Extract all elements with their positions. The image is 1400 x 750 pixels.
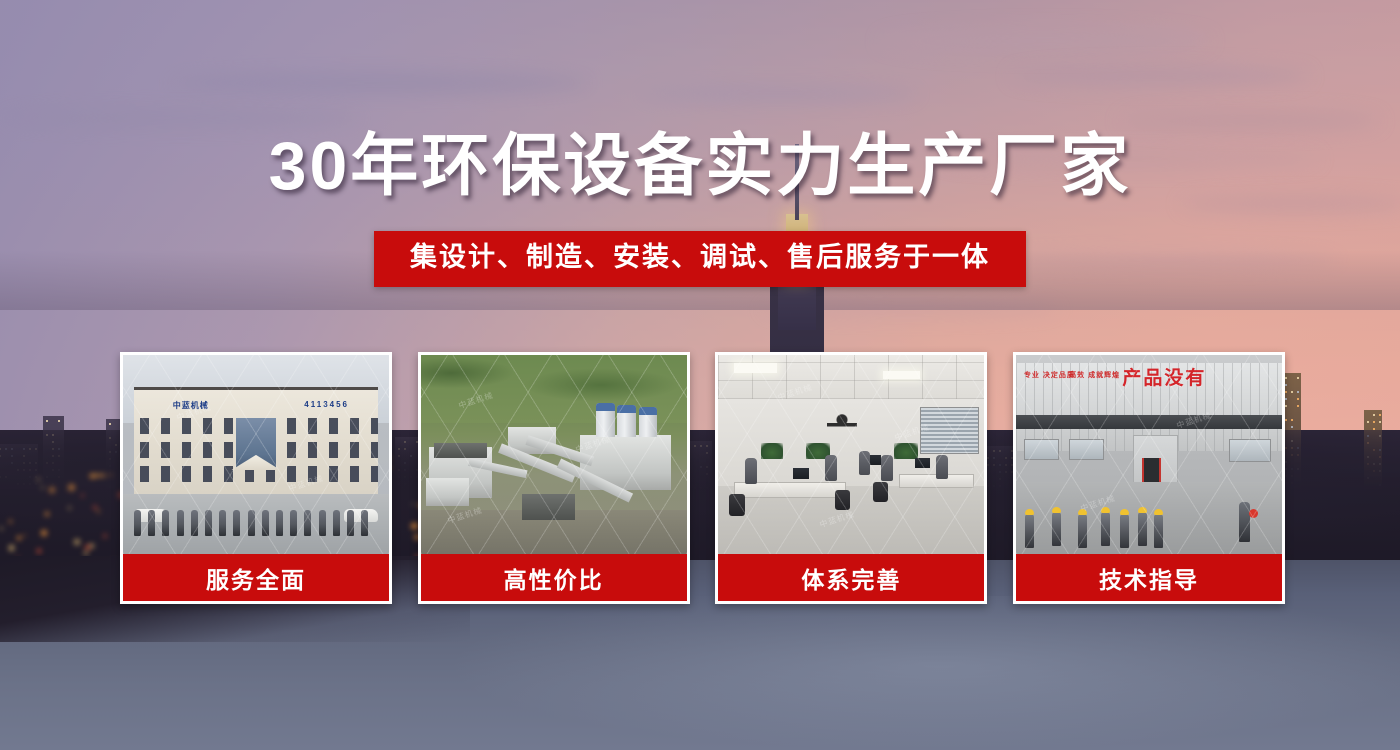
potted-plant — [761, 443, 783, 459]
building-window — [1285, 391, 1287, 393]
street-light-glow — [68, 506, 71, 509]
photo-layer: 产品没有 专业 决定品质 高效 成就辉煌 — [1016, 355, 1282, 554]
subtitle-banner: 集设计、制造、安装、调试、售后服务于一体 — [374, 231, 1026, 287]
staff-member — [304, 510, 311, 536]
staff-member — [347, 510, 354, 536]
street-light-glow — [41, 530, 47, 536]
office-desk — [734, 482, 846, 498]
building-window — [1285, 405, 1287, 407]
staff-member — [290, 510, 297, 536]
street-light-glow — [103, 534, 107, 538]
promotional-banner: 30年环保设备实力生产厂家 集设计、制造、安装、调试、售后服务于一体 中蓝机械 … — [0, 0, 1400, 750]
subtitle-row: 集设计、制造、安装、调试、售后服务于一体 — [0, 231, 1400, 287]
office-building: 中蓝机械 4113456 — [134, 387, 379, 498]
monitor — [793, 468, 809, 479]
building-window — [1297, 391, 1299, 393]
wall-dark-band — [1016, 415, 1282, 429]
yellow-hard-hat — [1078, 509, 1087, 515]
factory-worker — [1120, 514, 1129, 548]
building-window — [1379, 414, 1381, 416]
card-photo-industrial-plant: 中蓝机械 中蓝机械 中蓝机械 — [421, 355, 687, 554]
plant-roof — [434, 443, 487, 459]
factory-window — [1024, 439, 1059, 461]
street-light-glow — [17, 536, 21, 540]
company-phone-text: 4113456 — [304, 400, 349, 409]
staff-member — [276, 510, 283, 536]
building-window — [109, 423, 111, 425]
staff-member — [333, 510, 340, 536]
factory-worker — [1154, 514, 1163, 548]
factory-worker — [1138, 512, 1147, 546]
yellow-hard-hat — [1101, 507, 1110, 513]
building-window — [1285, 419, 1287, 421]
cloud — [1010, 66, 1310, 86]
feature-card-value[interactable]: 中蓝机械 中蓝机械 中蓝机械 高性价比 — [418, 352, 690, 604]
road-light-streak — [89, 474, 108, 477]
staff-member — [262, 510, 269, 536]
office-chair — [835, 490, 850, 510]
factory-worker — [1052, 512, 1061, 546]
building-window — [1297, 398, 1299, 400]
photo-layer: 中蓝机械 4113456 — [123, 355, 389, 554]
building-window — [1285, 398, 1287, 400]
ceiling-tile-grid — [718, 355, 984, 399]
yellow-hard-hat — [1052, 507, 1061, 513]
seated-person — [859, 451, 870, 475]
yellow-hard-hat — [1120, 509, 1129, 515]
building-window — [1285, 377, 1287, 379]
factory-window — [1069, 439, 1104, 461]
street-light-glow — [84, 551, 87, 554]
card-caption: 高性价比 — [421, 554, 687, 601]
feature-card-service[interactable]: 中蓝机械 4113456 中蓝机械 中蓝机械 服务全面 — [120, 352, 392, 604]
street-light-glow — [85, 545, 90, 550]
staff-member — [219, 510, 226, 536]
cloud — [170, 72, 590, 94]
building-window — [1291, 419, 1293, 421]
seated-person — [881, 455, 893, 481]
seated-person — [825, 455, 837, 481]
street-light-glow — [89, 544, 93, 548]
factory-worker — [1025, 514, 1034, 548]
staff-member — [177, 510, 184, 536]
street-light-glow — [41, 486, 44, 489]
supervisor — [1239, 502, 1250, 542]
building-window — [1373, 421, 1375, 423]
card-caption: 服务全面 — [123, 554, 389, 601]
factory-wall-slogan: 产品没有 — [1122, 363, 1206, 390]
staff-member — [134, 510, 141, 536]
photo-layer — [421, 355, 687, 554]
loading-shed — [522, 494, 575, 520]
yellow-hard-hat — [1138, 507, 1147, 513]
building-window — [1379, 421, 1381, 423]
seated-person — [745, 458, 757, 484]
wall-logo — [827, 411, 857, 433]
card-caption: 体系完善 — [718, 554, 984, 601]
wall-slogan-mid: 高效 成就辉煌 — [1069, 371, 1120, 380]
office-chair — [873, 482, 888, 502]
staff-member — [248, 510, 255, 536]
feature-card-system[interactable]: 中蓝机械 中蓝机械 中蓝机械 体系完善 — [715, 352, 987, 604]
cloud — [880, 28, 1210, 54]
feature-card-row: 中蓝机械 4113456 中蓝机械 中蓝机械 服务全面 — [120, 352, 1285, 604]
street-light-glow — [37, 549, 41, 553]
card-photo-office-interior: 中蓝机械 中蓝机械 中蓝机械 — [718, 355, 984, 554]
photo-layer — [718, 355, 984, 554]
silo-cap — [617, 405, 636, 413]
potted-plant — [894, 443, 918, 459]
building-window — [1291, 426, 1293, 428]
card-photo-office-building: 中蓝机械 4113456 中蓝机械 中蓝机械 — [123, 355, 389, 554]
office-chair — [729, 494, 745, 516]
street-light-glow — [9, 545, 15, 551]
card-photo-factory-workers: 产品没有 专业 决定品质 高效 成就辉煌 中蓝机械 中蓝机械 — [1016, 355, 1282, 554]
card-caption: 技术指导 — [1016, 554, 1282, 601]
staff-member — [233, 510, 240, 536]
staff-member — [361, 510, 368, 536]
factory-window — [1229, 439, 1272, 463]
factory-worker — [1101, 512, 1110, 546]
seated-person — [936, 455, 948, 479]
building-window — [1367, 421, 1369, 423]
building-window — [1297, 405, 1299, 407]
cloud — [640, 86, 920, 102]
page-title: 30年环保设备实力生产厂家 — [0, 132, 1400, 200]
window-blinds — [920, 407, 979, 455]
building-window — [1285, 384, 1287, 386]
silo-cap — [596, 403, 615, 411]
street-light-glow — [68, 484, 75, 491]
building-window — [1373, 414, 1375, 416]
cloud — [0, 108, 360, 128]
yellow-hard-hat — [1025, 509, 1034, 515]
street-light-glow — [97, 510, 100, 513]
monitor — [915, 458, 930, 468]
cloud — [1120, 110, 1380, 132]
staff-member — [148, 510, 155, 536]
staff-member — [319, 510, 326, 536]
feature-card-technical-guidance[interactable]: 产品没有 专业 决定品质 高效 成就辉煌 中蓝机械 中蓝机械 — [1013, 352, 1285, 604]
company-sign-text: 中蓝机械 — [173, 400, 209, 411]
yellow-hard-hat — [1154, 509, 1163, 515]
plant-building — [426, 478, 469, 506]
staff-member — [162, 510, 169, 536]
staff-member — [191, 510, 198, 536]
wall-slogan-left: 专业 决定品质 — [1024, 371, 1075, 380]
ceiling-light — [734, 363, 777, 373]
staff-member — [205, 510, 212, 536]
building-window — [1297, 377, 1299, 379]
factory-worker — [1078, 514, 1087, 548]
building-window — [58, 420, 60, 422]
silo-cap — [639, 407, 658, 415]
ceiling-light — [883, 371, 920, 379]
building-window — [1291, 391, 1293, 393]
building-window — [46, 420, 48, 422]
street-light-glow — [45, 512, 48, 515]
